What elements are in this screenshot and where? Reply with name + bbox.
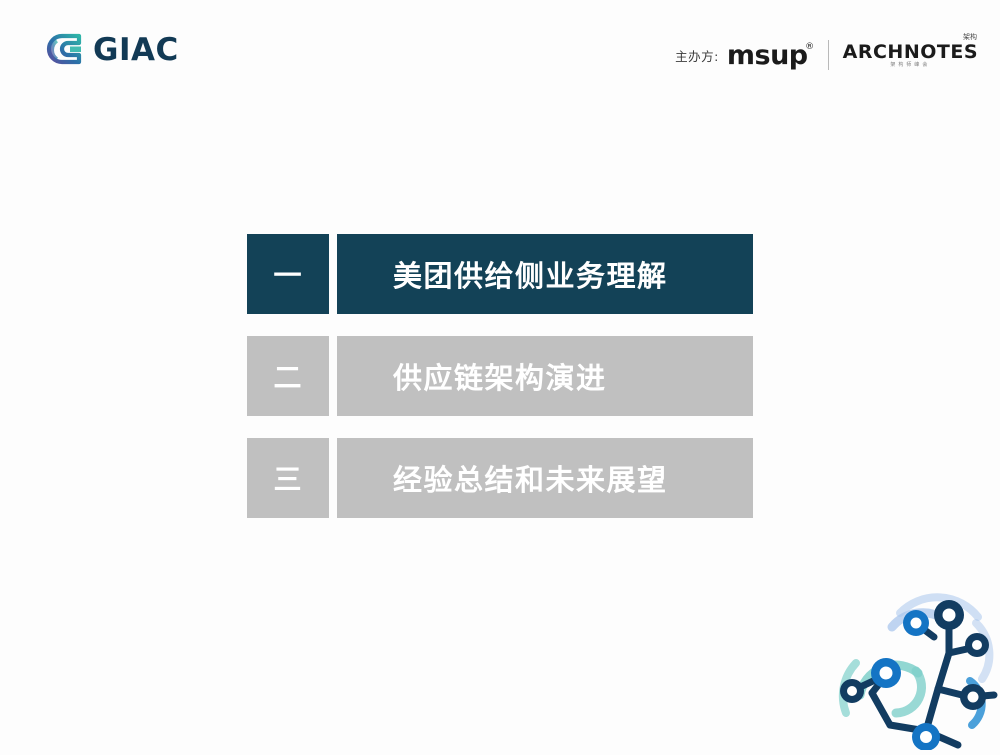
agenda-item-3[interactable]: 三 经验总结和未来展望 <box>247 438 753 518</box>
msup-wordmark: msup <box>727 40 808 71</box>
agenda-label-2: 供应链架构演进 <box>337 336 753 416</box>
msup-logo: msup® <box>727 42 814 69</box>
sponsor-divider <box>828 40 829 70</box>
msup-trademark-icon: ® <box>805 43 814 52</box>
giac-logo-icon <box>46 33 86 67</box>
archnotes-logo: ARCHNOTES 架构 架构师峰会 <box>843 43 978 68</box>
agenda-number-1: 一 <box>247 234 329 314</box>
agenda-item-1[interactable]: 一 美团供给侧业务理解 <box>247 234 753 314</box>
sponsor-block: 主办方: msup® ARCHNOTES 架构 架构师峰会 <box>675 40 978 70</box>
archnotes-wordmark: ARCHNOTES <box>843 41 978 63</box>
archnotes-cn-label: 架构 <box>963 34 977 41</box>
giac-wordmark: GIAC <box>93 35 179 66</box>
sponsor-label: 主办方: <box>675 46 719 65</box>
giac-logo: GIAC <box>46 33 179 67</box>
agenda-label-1: 美团供给侧业务理解 <box>337 234 753 314</box>
slide-header: GIAC 主办方: msup® ARCHNOTES 架构 架构师峰会 <box>0 0 1000 110</box>
archnotes-subtitle: 架构师峰会 <box>843 63 978 68</box>
agenda-number-3: 三 <box>247 438 329 518</box>
agenda-number-2: 二 <box>247 336 329 416</box>
agenda-item-2[interactable]: 二 供应链架构演进 <box>247 336 753 416</box>
agenda-list: 一 美团供给侧业务理解 二 供应链架构演进 三 经验总结和未来展望 <box>247 234 753 518</box>
network-nodes-graphic <box>830 585 1000 750</box>
agenda-label-3: 经验总结和未来展望 <box>337 438 753 518</box>
